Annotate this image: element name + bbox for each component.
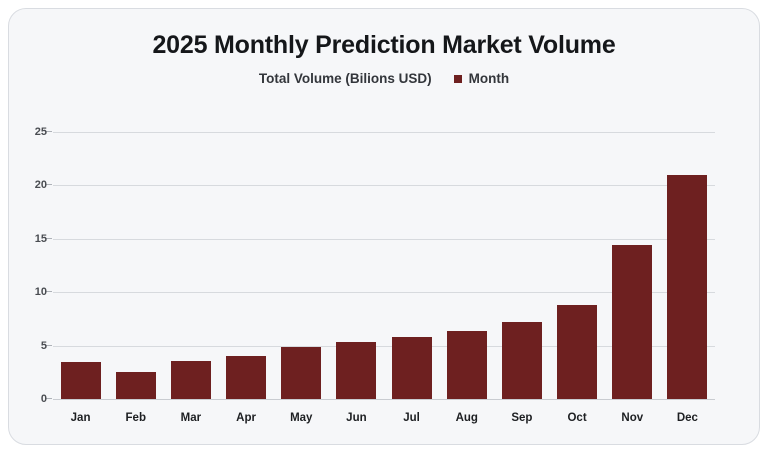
bar-series [53,9,715,446]
bar-jun[interactable] [336,342,376,399]
bar-nov[interactable] [612,245,652,399]
x-axis-tick-label-apr: Apr [236,412,256,424]
bar-aug[interactable] [447,331,487,399]
chart-card: 2025 Monthly Prediction Market Volume To… [8,8,760,445]
bar-jul[interactable] [392,337,432,399]
bar-feb[interactable] [116,372,156,399]
x-axis-tick-label-sep: Sep [511,412,532,424]
x-axis-tick-label-jan: Jan [71,412,91,424]
bar-sep[interactable] [502,322,542,399]
y-axis-tick-label: 0 [11,393,47,405]
bar-mar[interactable] [171,361,211,399]
bar-apr[interactable] [226,356,266,399]
x-axis-tick-label-mar: Mar [181,412,201,424]
x-axis-tick-label-jul: Jul [403,412,420,424]
x-axis-tick-label-aug: Aug [456,412,478,424]
y-axis-tick-label: 5 [11,340,47,352]
plot-area: 0510152025 JanFebMarAprMayJunJulAugSepOc… [9,9,761,446]
y-axis-tick-label: 20 [11,179,47,191]
x-axis-tick-label-dec: Dec [677,412,698,424]
y-axis-tick-label: 15 [11,233,47,245]
bar-oct[interactable] [557,305,597,399]
x-axis-tick-label-feb: Feb [126,412,146,424]
x-axis-tick-label-may: May [290,412,312,424]
y-axis-tick-label: 10 [11,286,47,298]
x-axis-tick-label-nov: Nov [621,412,643,424]
y-axis-tick-label: 25 [11,126,47,138]
x-axis-tick-label-oct: Oct [567,412,586,424]
bar-may[interactable] [281,347,321,399]
bar-dec[interactable] [667,175,707,399]
x-axis-tick-label-jun: Jun [346,412,366,424]
bar-jan[interactable] [61,362,101,399]
